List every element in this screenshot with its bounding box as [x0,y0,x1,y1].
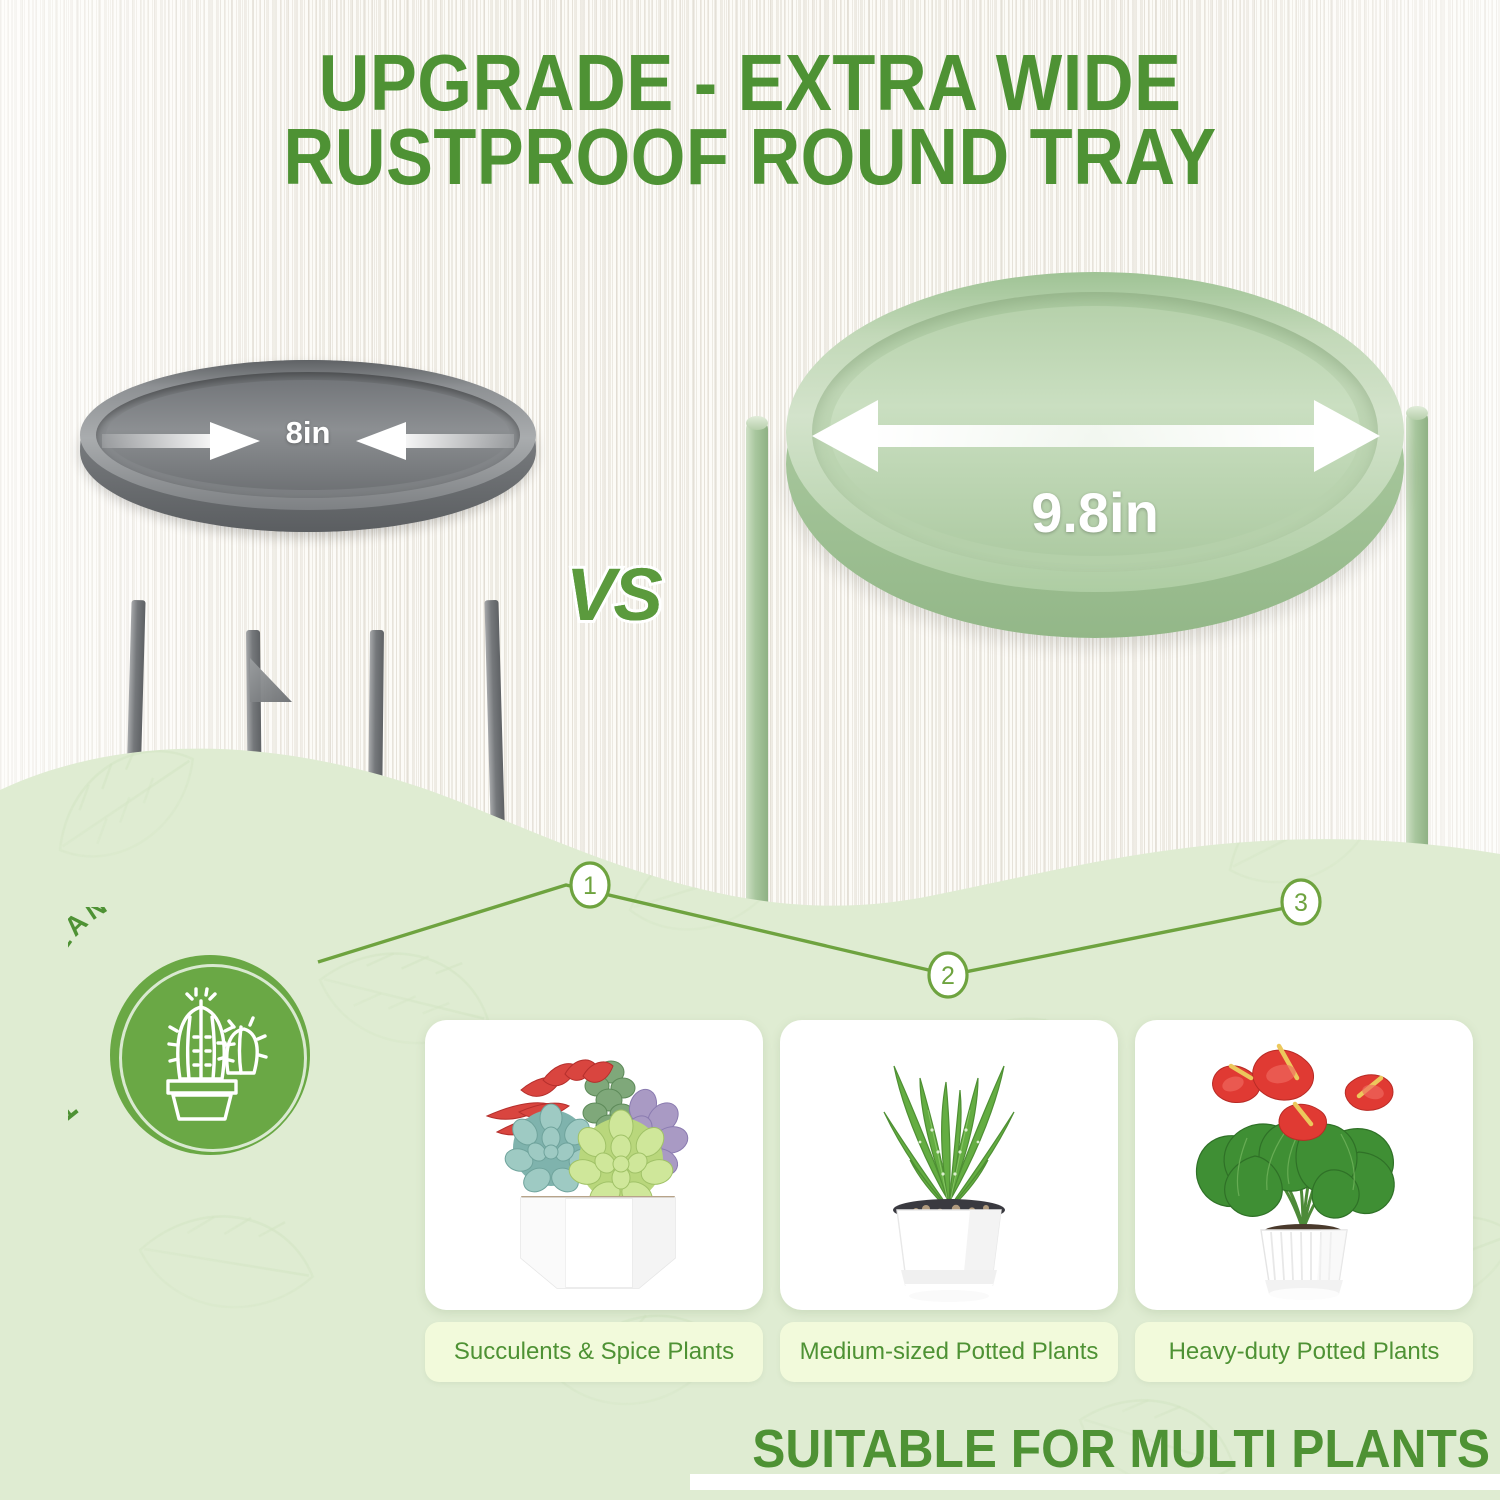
green-dimension-label: 9.8in [786,480,1404,545]
node-3: 3 [1282,880,1320,924]
node-1-number: 1 [583,872,597,900]
badge-arc-label: POTTED PLANT [68,907,134,1129]
caption-pill: Medium-sized Potted Plants [780,1322,1118,1382]
caption-text: Medium-sized Potted Plants [800,1338,1099,1366]
caption-pill-list: Succulents & Spice Plants Medium-sized P… [425,1322,1475,1382]
succulents-photo [425,1020,763,1310]
green-leg-cap [746,416,768,430]
green-dimension-arrows [806,390,1386,490]
svg-text:POTTED PLANT: POTTED PLANT [68,907,134,1129]
plant-card-list [425,1020,1475,1310]
green-leg-cap [1406,406,1428,420]
cactus-icon [146,987,274,1123]
node-3-number: 3 [1294,889,1308,917]
gray-dimension-label: 8in [80,415,536,451]
gray-tray: 8in [80,360,536,532]
headline-line-2: RUSTPROOF ROUND TRAY [283,112,1216,201]
caption-text: Succulents & Spice Plants [454,1338,734,1366]
caption-pill: Heavy-duty Potted Plants [1135,1322,1473,1382]
aloe-photo [780,1020,1118,1310]
potted-plant-badge: POTTED PLANT [110,955,310,1155]
page-title: UPGRADE - EXTRA WIDE RUSTPROOF ROUND TRA… [90,46,1410,194]
connector-line [318,885,1300,975]
node-2-number: 2 [941,962,955,990]
green-tray: 9.8in [786,272,1404,642]
infographic-root: UPGRADE - EXTRA WIDE RUSTPROOF ROUND TRA… [0,0,1500,1500]
footer-title: SUITABLE FOR MULTI PLANTS [119,1418,1490,1480]
node-1: 1 [571,863,609,907]
node-2: 2 [929,953,967,997]
plant-card[interactable] [425,1020,763,1310]
caption-text: Heavy-duty Potted Plants [1169,1338,1440,1366]
anthurium-photo [1135,1020,1473,1310]
plant-card[interactable] [1135,1020,1473,1310]
caption-pill: Succulents & Spice Plants [425,1322,763,1382]
vs-badge: VS [566,552,661,637]
plant-card[interactable] [780,1020,1118,1310]
